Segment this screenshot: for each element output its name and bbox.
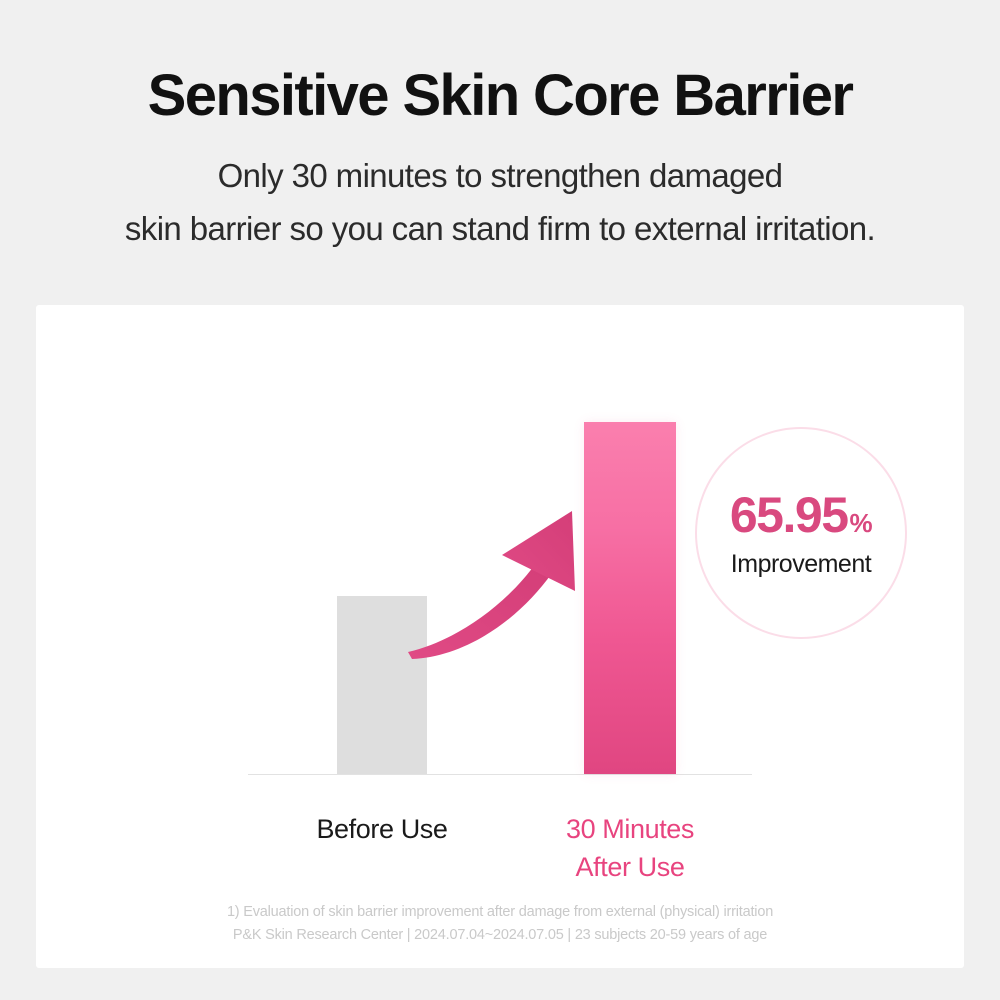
bar-label-before-use-text: Before Use: [316, 814, 447, 844]
page-subtitle: Only 30 minutes to strengthen damaged sk…: [0, 127, 1000, 256]
bar-after-use: [584, 422, 676, 774]
improvement-value-row: 65.95 %: [730, 490, 872, 540]
subtitle-line-2: skin barrier so you can stand firm to ex…: [0, 202, 1000, 255]
bar-label-after-use: 30 Minutes After Use: [550, 810, 710, 887]
improvement-value: 65.95: [730, 490, 848, 540]
chart-footnote: 1) Evaluation of skin barrier improvemen…: [36, 901, 964, 948]
improvement-caption: Improvement: [731, 552, 871, 577]
subtitle-line-1: Only 30 minutes to strengthen damaged: [0, 149, 1000, 202]
improvement-badge: 65.95 % Improvement: [695, 427, 907, 639]
growth-arrow-icon: [36, 305, 964, 968]
page-title: Sensitive Skin Core Barrier: [0, 0, 1000, 127]
percent-sign: %: [850, 510, 873, 536]
page-header: Sensitive Skin Core Barrier Only 30 minu…: [0, 0, 1000, 256]
chart-card: Before Use 30 Minutes After Use 65.95 % …: [36, 305, 964, 968]
footnote-line-1: 1) Evaluation of skin barrier improvemen…: [36, 901, 964, 924]
chart-axis-line: [248, 774, 752, 775]
bar-label-before-use: Before Use: [302, 810, 462, 848]
bar-chart: Before Use 30 Minutes After Use 65.95 % …: [36, 305, 964, 968]
bar-label-after-use-line-2: After Use: [550, 848, 710, 886]
bar-before-use: [337, 596, 427, 774]
footnote-line-2: P&K Skin Research Center | 2024.07.04~20…: [36, 924, 964, 947]
bar-label-after-use-line-1: 30 Minutes: [550, 810, 710, 848]
